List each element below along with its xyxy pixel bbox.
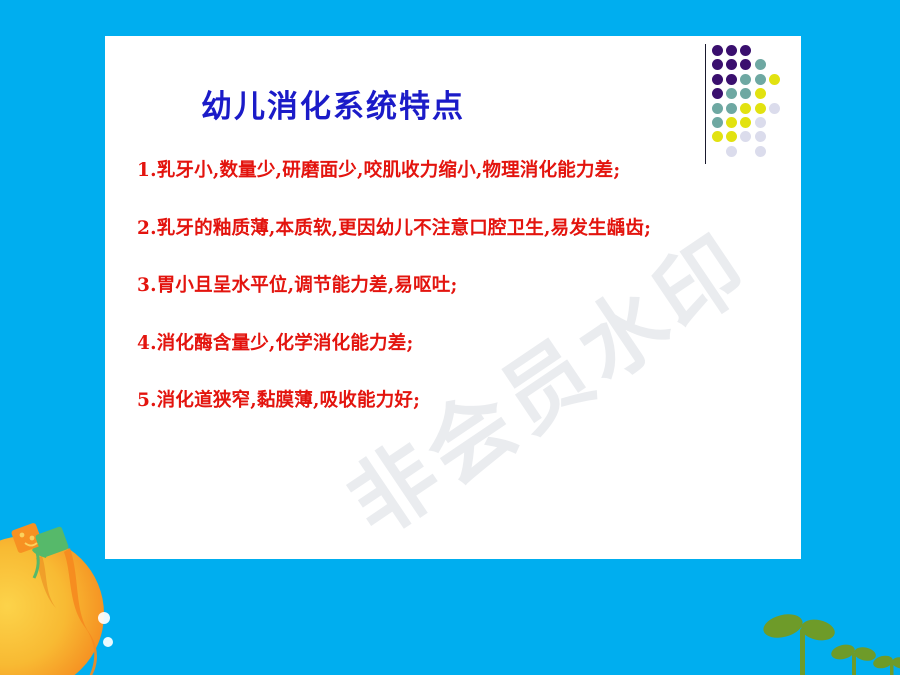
- decorative-dot-grid: [702, 41, 798, 166]
- motif-dot: [755, 59, 766, 70]
- list-item: 3.胃小且呈水平位,调节能力差,易呕吐;: [137, 277, 787, 296]
- motif-dot: [740, 103, 751, 114]
- bullet-list: 1.乳牙小,数量少,研磨面少,咬肌收力缩小,物理消化能力差; 2.乳牙的釉质薄,…: [137, 162, 787, 411]
- motif-dot: [769, 103, 780, 114]
- motif-dot: [755, 131, 766, 142]
- motif-dot: [726, 59, 737, 70]
- presentation-slide: 幼儿消化系统特点 1.乳牙小,数量少,研磨面少,咬肌收力缩小,物理消化能力差; …: [0, 0, 900, 675]
- motif-dot: [740, 74, 751, 85]
- list-item: 5.消化道狭窄,黏膜薄,吸收能力好;: [137, 392, 787, 411]
- motif-dot: [726, 88, 737, 99]
- motif-dot: [726, 131, 737, 142]
- motif-dot: [755, 117, 766, 128]
- motif-dot: [755, 103, 766, 114]
- motif-dot: [712, 117, 723, 128]
- slide-content-card: 幼儿消化系统特点 1.乳牙小,数量少,研磨面少,咬肌收力缩小,物理消化能力差; …: [105, 36, 801, 559]
- list-item: 4.消化酶含量少,化学消化能力差;: [137, 335, 787, 354]
- motif-dot: [726, 146, 737, 157]
- motif-dot: [740, 59, 751, 70]
- green-sprouts-decoration: [745, 600, 900, 675]
- motif-dot: [726, 117, 737, 128]
- motif-dot: [755, 146, 766, 157]
- list-item: 1.乳牙小,数量少,研磨面少,咬肌收力缩小,物理消化能力差;: [137, 162, 787, 181]
- motif-dot: [726, 74, 737, 85]
- motif-dot: [740, 131, 751, 142]
- motif-dot: [712, 103, 723, 114]
- list-item: 2.乳牙的釉质薄,本质软,更因幼儿不注意口腔卫生,易发生龋齿;: [137, 220, 787, 239]
- motif-dot: [712, 59, 723, 70]
- motif-dot: [726, 103, 737, 114]
- motif-dot: [726, 45, 737, 56]
- motif-dot: [712, 74, 723, 85]
- motif-dot: [740, 117, 751, 128]
- motif-dot: [769, 74, 780, 85]
- motif-dot: [712, 131, 723, 142]
- motif-dot: [740, 88, 751, 99]
- motif-dot: [740, 45, 751, 56]
- page-title: 幼儿消化系统特点: [201, 81, 465, 126]
- motif-dot: [755, 88, 766, 99]
- motif-dot: [712, 88, 723, 99]
- motif-dot: [755, 74, 766, 85]
- motif-dot: [712, 45, 723, 56]
